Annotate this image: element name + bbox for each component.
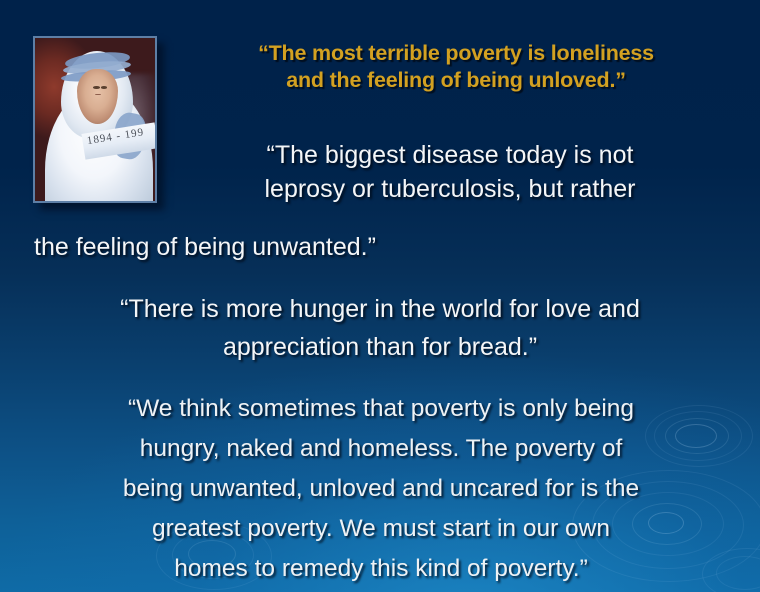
quote-line: leprosy or tuberculosis, but rather (170, 172, 730, 206)
quote-line: appreciation than for bread.” (20, 328, 740, 366)
quote-line: “The most terrible poverty is loneliness (168, 40, 744, 67)
quote-line: “The biggest disease today is not (170, 138, 730, 172)
quote-hunger: “There is more hunger in the world for l… (20, 290, 740, 366)
quote-line: “We think sometimes that poverty is only… (20, 389, 742, 429)
quote-disease-overflow: the feeling of being unwanted.” (20, 230, 740, 264)
slide-canvas: 1894 - 199 “The most terrible poverty is… (0, 0, 760, 592)
quote-line: and the feeling of being unloved.” (168, 67, 744, 94)
quote-disease: “The biggest disease today is not lepros… (170, 138, 730, 206)
mother-teresa-photo: 1894 - 199 (33, 36, 157, 203)
quote-loneliness: “The most terrible poverty is loneliness… (168, 40, 744, 94)
quote-line: “There is more hunger in the world for l… (20, 290, 740, 328)
photo-eye (93, 86, 100, 89)
quote-greatest-poverty: “We think sometimes that poverty is only… (20, 389, 742, 589)
photo-mouth (95, 94, 100, 95)
quote-line: the feeling of being unwanted.” (34, 230, 740, 264)
quote-line: homes to remedy this kind of poverty.” (20, 549, 742, 589)
photo-eye (101, 86, 108, 89)
photo-inner: 1894 - 199 (35, 38, 155, 201)
quote-line: being unwanted, unloved and uncared for … (20, 469, 742, 509)
quote-line: hungry, naked and homeless. The poverty … (20, 429, 742, 469)
quote-line: greatest poverty. We must start in our o… (20, 509, 742, 549)
